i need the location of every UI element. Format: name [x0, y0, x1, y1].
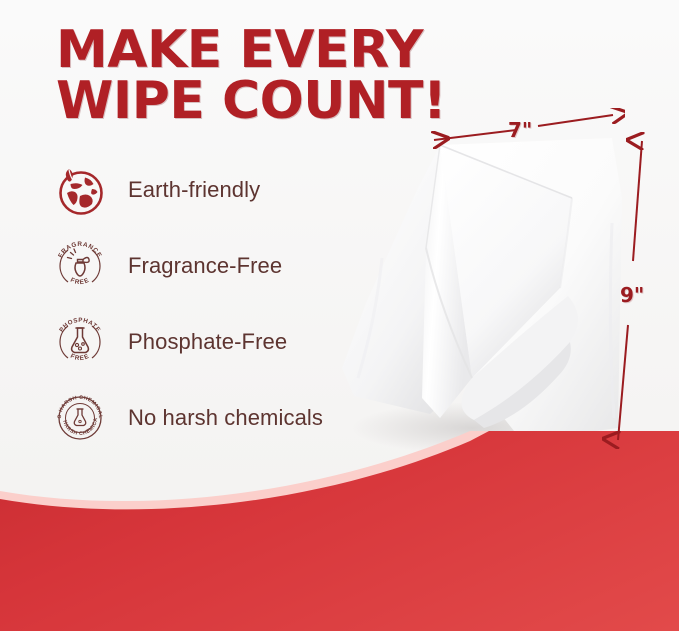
fragrance-free-icon: FRAGRANCE FREE	[52, 238, 108, 294]
feature-label: Fragrance-Free	[128, 253, 282, 279]
svg-text:FREE: FREE	[69, 353, 91, 363]
bottom-wave-decoration	[0, 431, 679, 631]
svg-text:FREE: FREE	[69, 277, 91, 287]
feature-list: Earth-friendly FRAGRANCE	[52, 152, 412, 456]
page-title: MAKE EVERY WIPE COUNT!	[56, 25, 446, 127]
list-item: Earth-friendly	[52, 152, 412, 228]
list-item: FRAGRANCE FREE Fragrance-Free	[52, 228, 412, 304]
dimension-width-label: 7"	[508, 118, 532, 142]
svg-text:PHOSPHATE: PHOSPHATE	[58, 317, 102, 334]
feature-label: No harsh chemicals	[128, 405, 323, 431]
svg-text:FRAGRANCE: FRAGRANCE	[57, 241, 103, 259]
dimension-height-label: 9"	[620, 283, 644, 307]
feature-label: Earth-friendly	[128, 177, 260, 203]
no-harsh-chemicals-icon: NO HARSH CHEMICALS NO HARSH CHEMICALS	[52, 390, 108, 446]
earth-globe-leaf-icon	[52, 162, 108, 218]
feature-label: Phosphate-Free	[128, 329, 287, 355]
promo-banner: MAKE EVERY WIPE COUNT!	[0, 0, 679, 631]
phosphate-free-icon: PHOSPHATE FREE	[52, 314, 108, 370]
list-item: PHOSPHATE FREE Phosphate-Free	[52, 304, 412, 380]
list-item: NO HARSH CHEMICALS NO HARSH CHEMICALS No…	[52, 380, 412, 456]
